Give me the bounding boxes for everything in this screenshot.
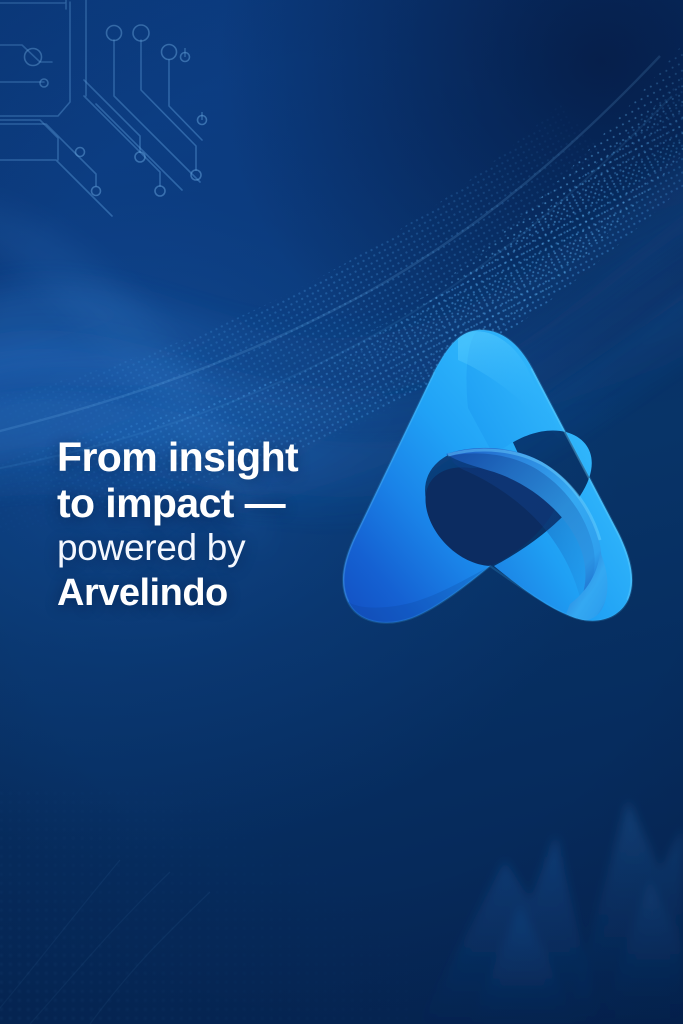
- brand-name: Arvelindo: [57, 570, 387, 616]
- subheadline-block: powered by Arvelindo: [57, 526, 387, 616]
- headline-line-2: to impact —: [57, 480, 387, 526]
- headline-block: From insight to impact — powered by Arve…: [57, 434, 387, 616]
- subheadline-line-1: powered by: [57, 526, 387, 570]
- headline-line-1: From insight: [57, 434, 387, 480]
- promo-poster: From insight to impact — powered by Arve…: [0, 0, 683, 1024]
